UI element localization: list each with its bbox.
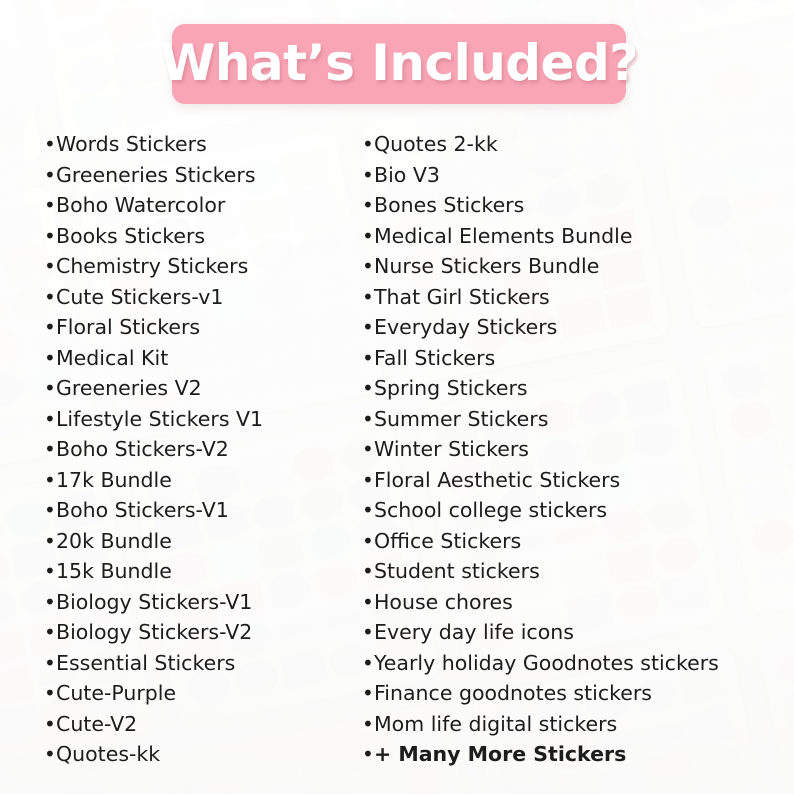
list-item: •Cute Stickers-v1 [44, 282, 354, 313]
list-item: •That Girl Stickers [362, 282, 782, 313]
bullet-icon: • [44, 465, 56, 496]
list-item-label: Summer Stickers [374, 404, 548, 435]
list-item: •Biology Stickers-V2 [44, 617, 354, 648]
list-item-label: Every day life icons [374, 617, 574, 648]
list-item: •Bones Stickers [362, 190, 782, 221]
list-item-label: Boho Stickers-V1 [56, 495, 229, 526]
list-item-label: Spring Stickers [374, 373, 528, 404]
list-item: •Winter Stickers [362, 434, 782, 465]
list-item: •Summer Stickers [362, 404, 782, 435]
list-item-label: Yearly holiday Goodnotes stickers [374, 648, 719, 679]
list-item: •+ Many More Stickers [362, 739, 782, 770]
list-item-label: Words Stickers [56, 129, 207, 160]
bullet-icon: • [44, 221, 56, 252]
bullet-icon: • [44, 709, 56, 740]
bullet-icon: • [362, 373, 374, 404]
bullet-icon: • [44, 343, 56, 374]
bullet-icon: • [44, 129, 56, 160]
bullet-icon: • [362, 312, 374, 343]
list-item: •Finance goodnotes stickers [362, 678, 782, 709]
list-item-label: Fall Stickers [374, 343, 495, 374]
bullet-icon: • [44, 434, 56, 465]
list-item-label: 17k Bundle [56, 465, 172, 496]
bullet-icon: • [362, 434, 374, 465]
list-item: •15k Bundle [44, 556, 354, 587]
list-item: •Medical Kit [44, 343, 354, 374]
list-item-label: Books Stickers [56, 221, 205, 252]
list-item-label: Office Stickers [374, 526, 521, 557]
bullet-icon: • [44, 556, 56, 587]
list-item: •House chores [362, 587, 782, 618]
list-item-label: Finance goodnotes stickers [374, 678, 652, 709]
bullet-icon: • [362, 495, 374, 526]
bullet-icon: • [362, 282, 374, 313]
list-item-label: Quotes-kk [56, 739, 160, 770]
list-item-label: + Many More Stickers [374, 739, 626, 770]
list-item: •Quotes-kk [44, 739, 354, 770]
list-item-label: Greeneries Stickers [56, 160, 256, 191]
list-item: •Spring Stickers [362, 373, 782, 404]
header-banner: What’s Included? [172, 24, 626, 104]
included-list-left-column: •Words Stickers•Greeneries Stickers•Boho… [44, 129, 354, 770]
list-item: •Nurse Stickers Bundle [362, 251, 782, 282]
list-item-label: Winter Stickers [374, 434, 529, 465]
bullet-icon: • [44, 678, 56, 709]
bullet-icon: • [362, 556, 374, 587]
list-item-label: House chores [374, 587, 513, 618]
list-item-label: Floral Stickers [56, 312, 200, 343]
list-item: •Greeneries Stickers [44, 160, 354, 191]
list-item-label: School college stickers [374, 495, 607, 526]
bullet-icon: • [362, 129, 374, 160]
list-item-label: Quotes 2-kk [374, 129, 498, 160]
list-item-label: Medical Elements Bundle [374, 221, 633, 252]
list-item-label: Boho Watercolor [56, 190, 225, 221]
list-item: •Yearly holiday Goodnotes stickers [362, 648, 782, 679]
bullet-icon: • [44, 739, 56, 770]
list-item: •Quotes 2-kk [362, 129, 782, 160]
list-item-label: 20k Bundle [56, 526, 172, 557]
bullet-icon: • [44, 526, 56, 557]
list-item-label: Nurse Stickers Bundle [374, 251, 599, 282]
list-item-label: Chemistry Stickers [56, 251, 248, 282]
list-item: •Office Stickers [362, 526, 782, 557]
bullet-icon: • [44, 587, 56, 618]
list-item: •Greeneries V2 [44, 373, 354, 404]
bullet-icon: • [44, 282, 56, 313]
list-item: •Every day life icons [362, 617, 782, 648]
bullet-icon: • [44, 160, 56, 191]
list-item-label: Cute Stickers-v1 [56, 282, 223, 313]
list-item-label: Floral Aesthetic Stickers [374, 465, 620, 496]
bullet-icon: • [362, 251, 374, 282]
list-item: •Biology Stickers-V1 [44, 587, 354, 618]
bullet-icon: • [44, 617, 56, 648]
list-item-label: Biology Stickers-V1 [56, 587, 252, 618]
list-item: •Everyday Stickers [362, 312, 782, 343]
page-title: What’s Included? [160, 38, 638, 91]
list-item: •Books Stickers [44, 221, 354, 252]
bullet-icon: • [362, 587, 374, 618]
list-item: •Floral Aesthetic Stickers [362, 465, 782, 496]
list-item-label: Cute-V2 [56, 709, 137, 740]
list-item: •Words Stickers [44, 129, 354, 160]
list-item: •Bio V3 [362, 160, 782, 191]
included-list-right-column: •Quotes 2-kk•Bio V3•Bones Stickers•Medic… [362, 129, 782, 770]
bullet-icon: • [44, 251, 56, 282]
list-item-label: Medical Kit [56, 343, 168, 374]
list-item-label: Biology Stickers-V2 [56, 617, 252, 648]
list-item-label: Essential Stickers [56, 648, 235, 679]
list-item: •Essential Stickers [44, 648, 354, 679]
bullet-icon: • [44, 495, 56, 526]
list-item: •School college stickers [362, 495, 782, 526]
bullet-icon: • [362, 404, 374, 435]
included-items-lists: •Words Stickers•Greeneries Stickers•Boho… [0, 129, 794, 770]
bullet-icon: • [362, 739, 374, 770]
bullet-icon: • [362, 526, 374, 557]
list-item-label: Boho Stickers-V2 [56, 434, 229, 465]
promo-graphic: What’s Included? •Words Stickers•Greener… [0, 0, 794, 794]
bullet-icon: • [362, 343, 374, 374]
bullet-icon: • [44, 373, 56, 404]
list-item: •17k Bundle [44, 465, 354, 496]
list-item: •Boho Stickers-V1 [44, 495, 354, 526]
bullet-icon: • [362, 709, 374, 740]
list-item-label: Bones Stickers [374, 190, 524, 221]
bullet-icon: • [362, 465, 374, 496]
list-item: •Student stickers [362, 556, 782, 587]
list-item: •Mom life digital stickers [362, 709, 782, 740]
bullet-icon: • [44, 404, 56, 435]
list-item-label: Student stickers [374, 556, 540, 587]
bullet-icon: • [362, 678, 374, 709]
list-item: •Boho Stickers-V2 [44, 434, 354, 465]
bullet-icon: • [362, 160, 374, 191]
bullet-icon: • [362, 190, 374, 221]
list-item: •Cute-V2 [44, 709, 354, 740]
list-item: •Floral Stickers [44, 312, 354, 343]
list-item-label: Everyday Stickers [374, 312, 557, 343]
bullet-icon: • [44, 648, 56, 679]
bullet-icon: • [362, 648, 374, 679]
list-item-label: 15k Bundle [56, 556, 172, 587]
bullet-icon: • [362, 221, 374, 252]
bullet-icon: • [362, 617, 374, 648]
list-item: •Cute-Purple [44, 678, 354, 709]
list-item-label: Greeneries V2 [56, 373, 202, 404]
bullet-icon: • [44, 312, 56, 343]
list-item: •Fall Stickers [362, 343, 782, 374]
list-item: •Medical Elements Bundle [362, 221, 782, 252]
list-item-label: Lifestyle Stickers V1 [56, 404, 263, 435]
list-item-label: Bio V3 [374, 160, 440, 191]
list-item: •20k Bundle [44, 526, 354, 557]
list-item: •Boho Watercolor [44, 190, 354, 221]
list-item: •Chemistry Stickers [44, 251, 354, 282]
list-item: •Lifestyle Stickers V1 [44, 404, 354, 435]
list-item-label: Cute-Purple [56, 678, 176, 709]
list-item-label: Mom life digital stickers [374, 709, 617, 740]
bullet-icon: • [44, 190, 56, 221]
list-item-label: That Girl Stickers [374, 282, 550, 313]
